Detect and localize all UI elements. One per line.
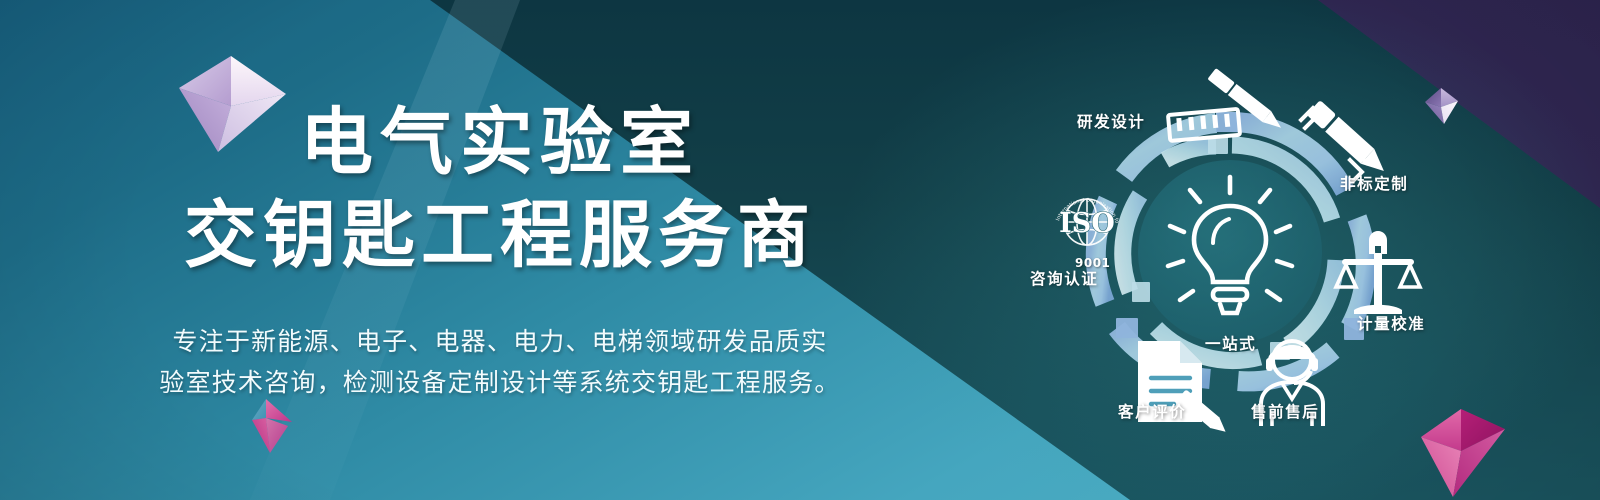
octahedron-pink-partial-icon (236, 396, 298, 460)
subtitle-line-1: 专注于新能源、电子、电器、电力、电梯领域研发品质实 (0, 322, 1000, 363)
node-label-consulting-certification: 咨询认证 (1030, 267, 1098, 289)
headline-line-1: 电气实验室 (0, 96, 1000, 189)
iso-9001-icon: ISO International Organization for Stand… (1048, 182, 1126, 258)
node-label-presales-aftersales: 售前售后 (1251, 400, 1319, 422)
service-cycle-infographic: ISO International Organization for Stand… (1020, 60, 1490, 450)
node-label-custom-made: 非标定制 (1340, 172, 1408, 194)
headline-group: 电气实验室 交钥匙工程服务商 (0, 96, 1000, 283)
node-label-customer-review: 客户评价 (1118, 400, 1186, 422)
subtitle-line-2: 验室技术咨询，检测设备定制设计等系统交钥匙工程服务。 (0, 363, 1000, 404)
node-label-rd-design: 研发设计 (1077, 110, 1145, 132)
center-label-one-stop: 一站式 (1205, 332, 1256, 354)
balance-scale-wrench-icon (1336, 231, 1420, 314)
promo-banner: 电气实验室 交钥匙工程服务商 专注于新能源、电子、电器、电力、电梯领域研发品质实… (0, 0, 1600, 500)
svg-text:ISO: ISO (1059, 208, 1115, 239)
headline-line-2: 交钥匙工程服务商 (0, 189, 1000, 282)
node-label-metrology-calibration: 计量校准 (1357, 312, 1425, 334)
subtitle-group: 专注于新能源、电子、电器、电力、电梯领域研发品质实 验室技术咨询，检测设备定制设… (0, 322, 1000, 403)
